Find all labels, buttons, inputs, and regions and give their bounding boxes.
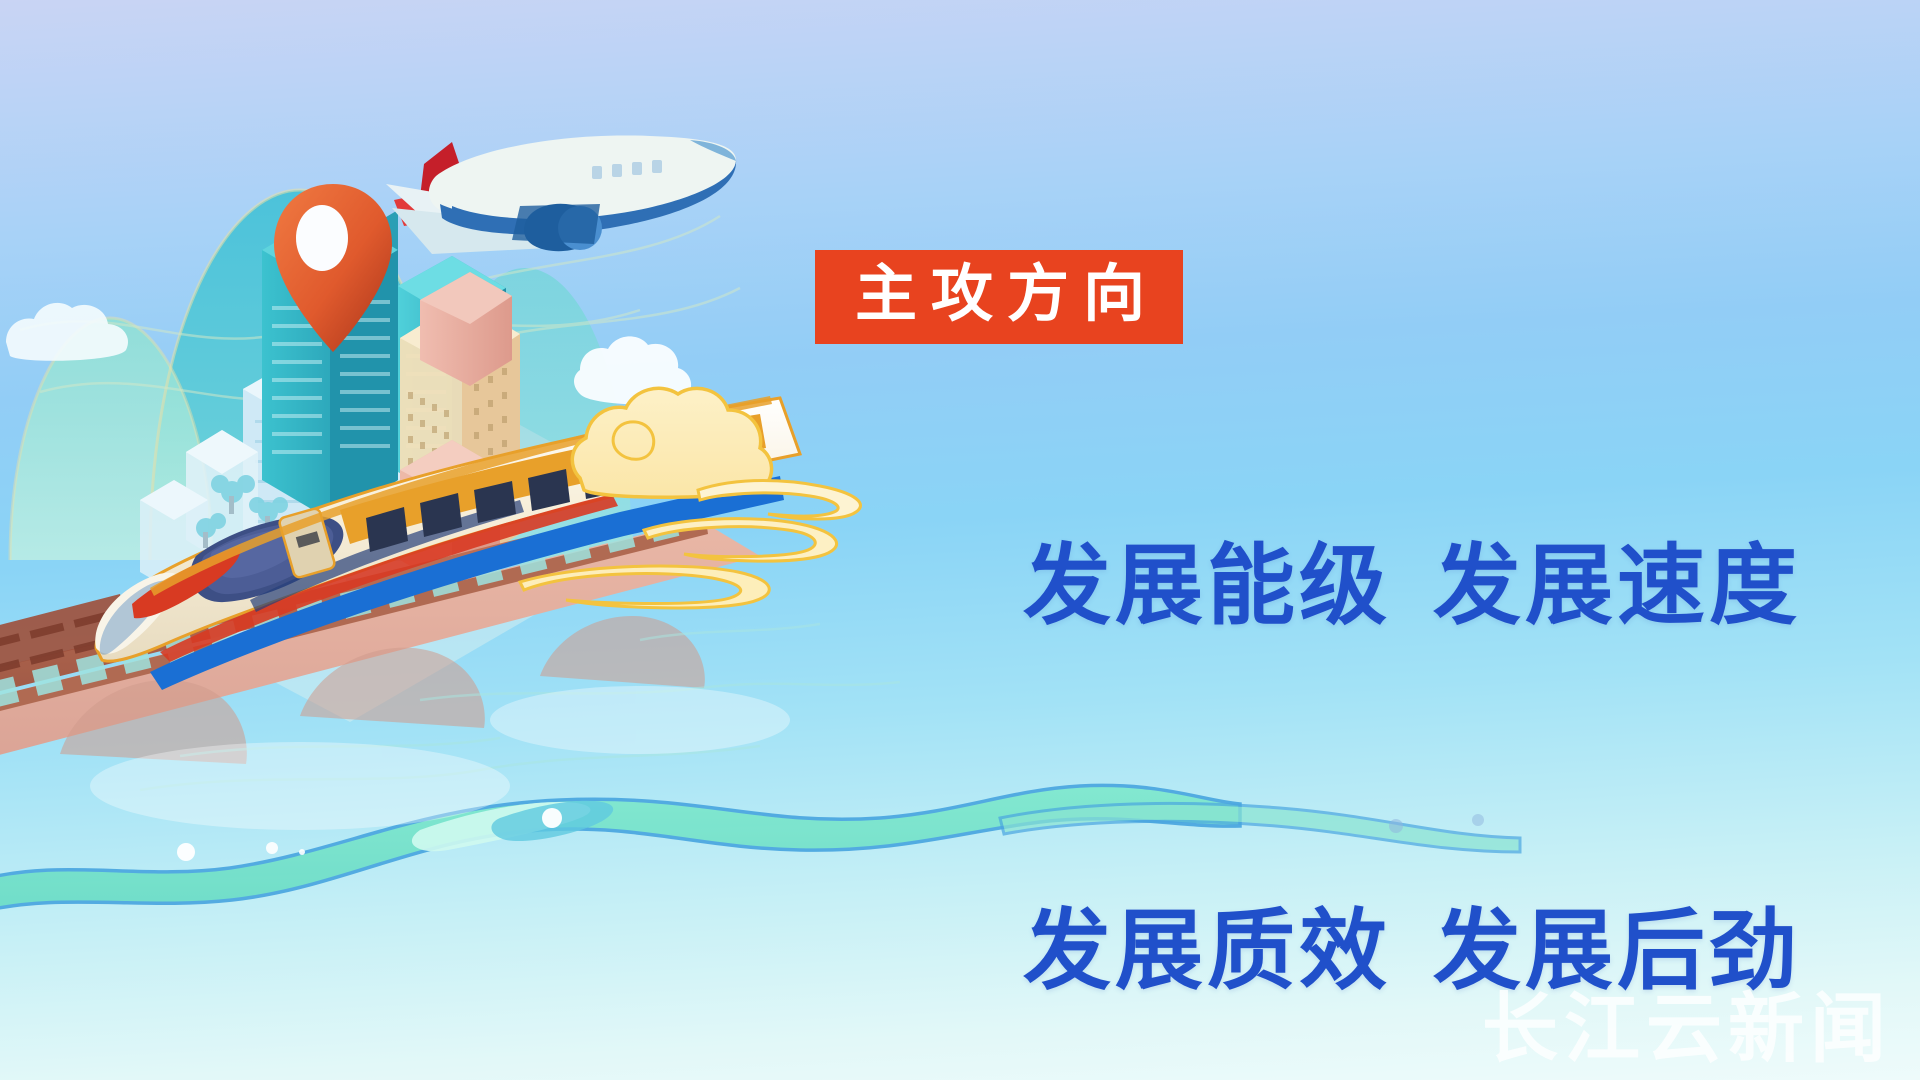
channel-watermark: 长江云新闻 [1482,992,1892,1068]
headline-line-1: 发展能级发展速度 [815,406,1765,770]
headline: 发展能级发展速度 发展质效发展后劲 [815,406,1765,1080]
text-block: 主攻方向 发展能级发展速度 发展质效发展后劲 [815,250,1765,1080]
section-tag-banner: 主攻方向 [815,250,1183,344]
poster-canvas: 主攻方向 发展能级发展速度 发展质效发展后劲 长江云新闻 [0,0,1920,1080]
headline-line-1-right: 发展速度 [1433,539,1801,636]
white-cloud [6,303,128,361]
headline-line-1-left: 发展能级 [1023,539,1391,636]
headline-line-2-left: 发展质效 [1023,904,1391,1001]
